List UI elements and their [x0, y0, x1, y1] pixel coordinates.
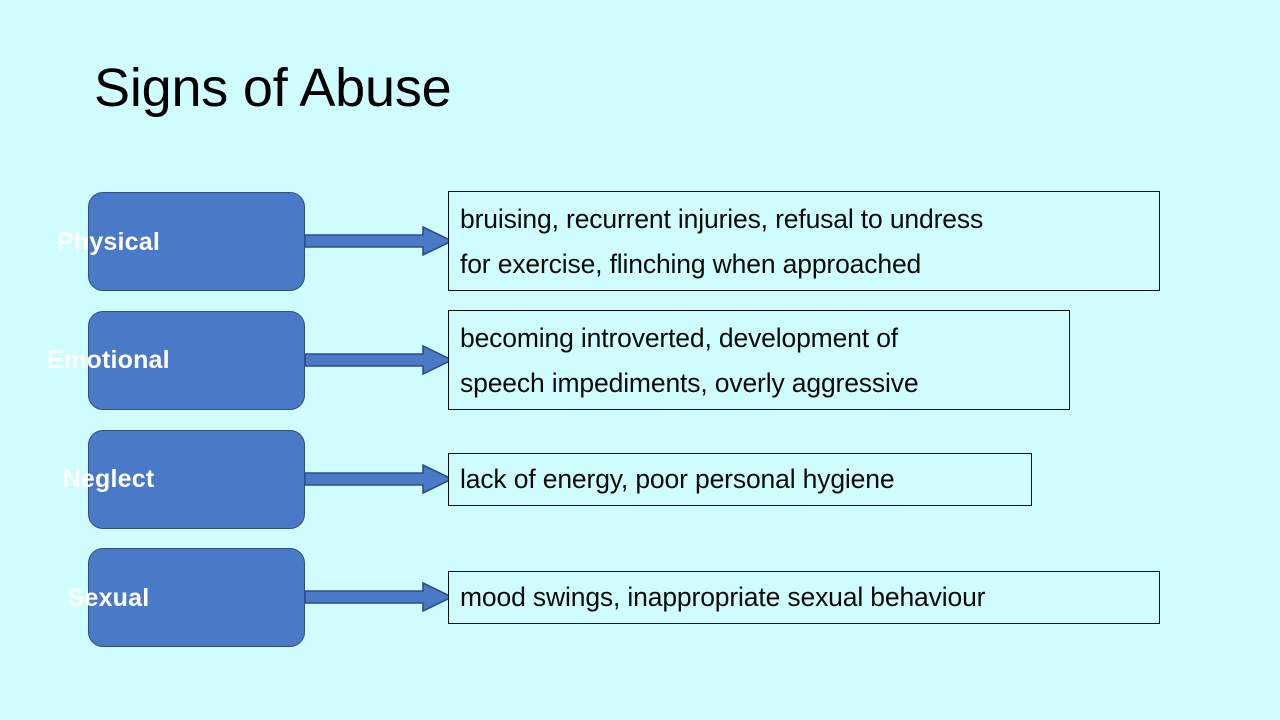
description-text-physical: bruising, recurrent injuries, refusal to…	[460, 197, 1152, 287]
arrow-neglect	[305, 464, 453, 494]
description-text-emotional: becoming introverted, development of spe…	[460, 316, 1062, 406]
page-title: Signs of Abuse	[94, 54, 451, 122]
category-label-sexual: Sexual	[0, 584, 217, 612]
category-label-neglect: Neglect	[0, 465, 217, 493]
arrow-emotional	[305, 345, 453, 375]
slide-canvas: Signs of Abuse Physical bruising, recurr…	[0, 0, 1280, 720]
arrow-sexual	[305, 582, 453, 612]
description-text-neglect: lack of energy, poor personal hygiene	[460, 457, 1024, 502]
category-label-physical: Physical	[0, 228, 217, 256]
category-label-emotional: Emotional	[0, 346, 217, 374]
description-text-sexual: mood swings, inappropriate sexual behavi…	[460, 575, 1152, 620]
arrow-physical	[305, 226, 453, 256]
